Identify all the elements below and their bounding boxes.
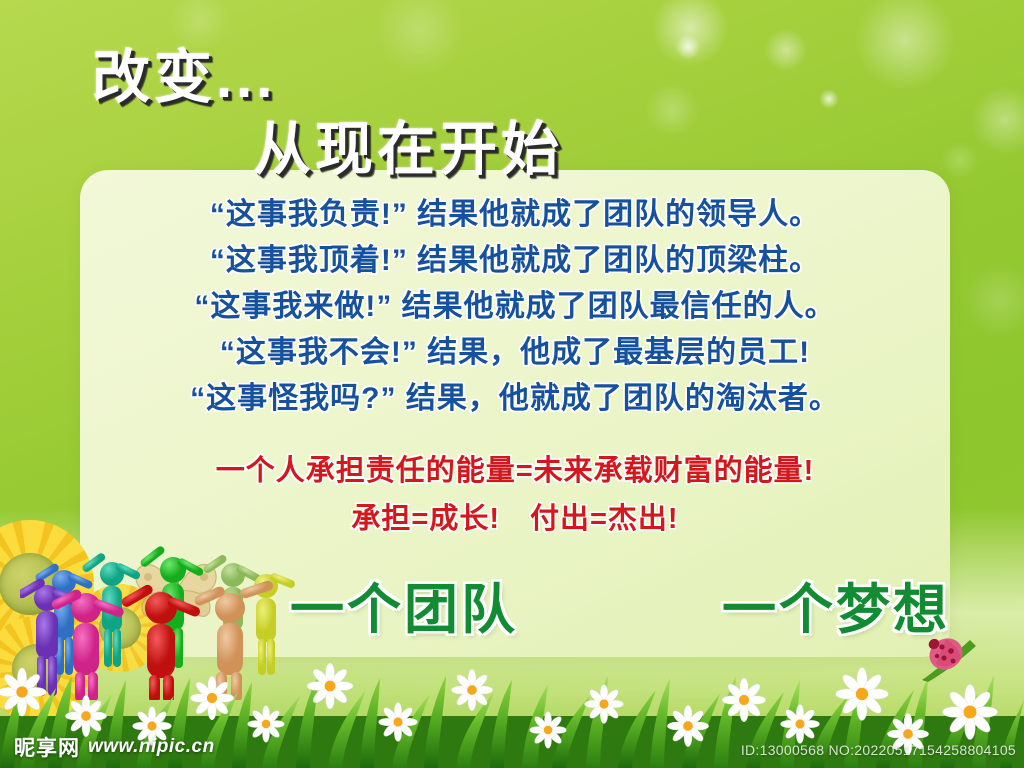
slogan-right: 一个梦想 (722, 565, 950, 644)
daisy-icon (0, 668, 46, 716)
quote-line: “这事怪我吗?” 结果，他就成了团队的淘汰者。 (80, 376, 950, 422)
watermark-logo: 昵享网 (14, 732, 80, 762)
daisy-icon (584, 684, 623, 723)
daisy-icon (942, 684, 997, 739)
daisy-icon (451, 669, 492, 710)
daisy-icon (530, 712, 567, 749)
daisy-icon (307, 663, 353, 709)
quote-line: “这事我来做!” 结果他就成了团队最信任的人。 (80, 284, 950, 330)
emphasis-line: 承担=成长! 付出=杰出! (80, 495, 950, 543)
daisy-icon (190, 676, 234, 720)
emphasis-line: 一个人承担责任的能量=未来承载财富的能量! (80, 447, 950, 495)
quote-line: “这事我不会!” 结果，他成了最基层的员工! (80, 330, 950, 376)
poster-canvas: 改变... 从现在开始 “这事我负责!” 结果他就成了团队的领导人。 “这事我顶… (0, 0, 1024, 768)
slogan: 一个团队 一个梦想 (290, 565, 950, 644)
slogan-left: 一个团队 (290, 565, 518, 644)
emphasis-list: 一个人承担责任的能量=未来承载财富的能量! 承担=成长! 付出=杰出! (80, 447, 950, 543)
watermark: 昵享网 www.nipic.cn (14, 732, 215, 762)
quote-line: “这事我顶着!” 结果他就成了团队的顶梁柱。 (80, 238, 950, 284)
daisy-icon (378, 702, 417, 741)
quote-line: “这事我负责!” 结果他就成了团队的领导人。 (80, 192, 950, 238)
daisy-icon (836, 668, 889, 721)
image-id-tag: ID:13000568 NO:20220517154258804105 (741, 742, 1016, 758)
ladybug-icon (920, 630, 978, 682)
daisy-icon (65, 695, 106, 736)
watermark-url: www.nipic.cn (88, 736, 215, 758)
daisy-icon (722, 678, 766, 722)
quote-list: “这事我负责!” 结果他就成了团队的领导人。 “这事我顶着!” 结果他就成了团队… (80, 192, 950, 422)
daisy-icon (780, 704, 819, 743)
daisy-icon (248, 706, 285, 743)
daisy-icon (667, 705, 708, 746)
